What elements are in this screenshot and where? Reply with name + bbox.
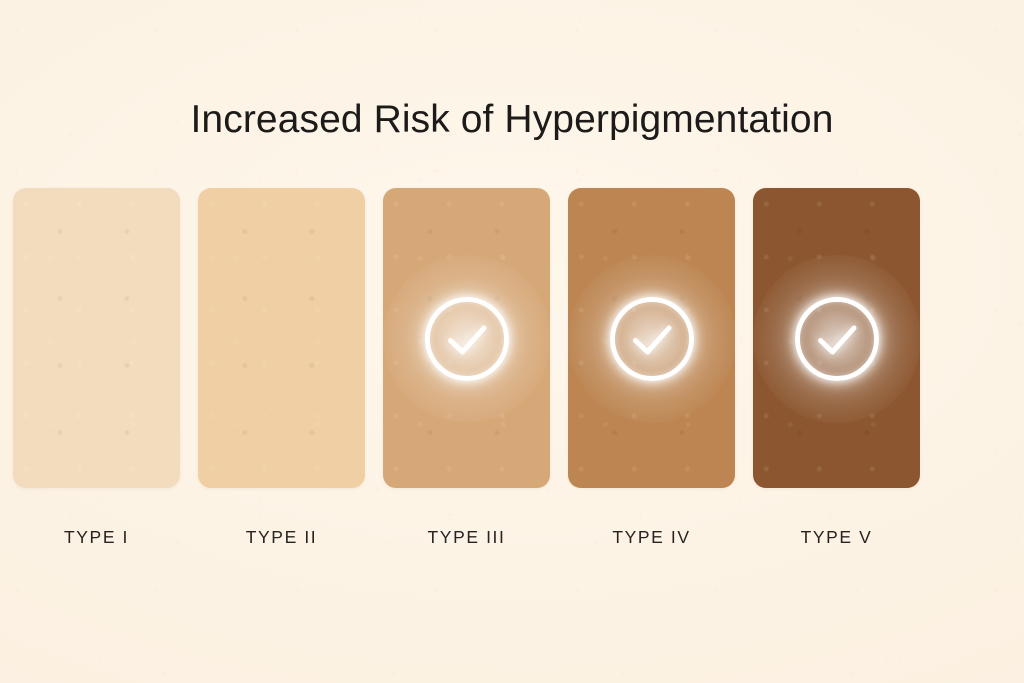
skin-type-swatch-cell[interactable]: [383, 188, 550, 488]
skin-type-scale: [13, 188, 920, 488]
skin-type-swatch-cell[interactable]: [198, 188, 365, 488]
skin-type-label: TYPE IV: [568, 527, 735, 548]
skin-type-swatch-cell[interactable]: [753, 188, 920, 488]
check-circle-icon: [610, 297, 694, 381]
checkmark-icon: [795, 297, 879, 381]
hyperpigmentation-risk-infographic: Increased Risk of Hyperpigmentation TYPE…: [0, 0, 1024, 683]
check-circle-icon: [425, 297, 509, 381]
skin-type-label: TYPE I: [13, 527, 180, 548]
skin-type-label: TYPE V: [753, 527, 920, 548]
check-circle-icon: [795, 297, 879, 381]
skin-tone-swatch[interactable]: [13, 188, 180, 488]
skin-type-label-row: TYPE ITYPE IITYPE IIITYPE IVTYPE V: [13, 527, 920, 548]
skin-type-label: TYPE II: [198, 527, 365, 548]
skin-type-swatch-cell[interactable]: [13, 188, 180, 488]
skin-tone-swatch[interactable]: [198, 188, 365, 488]
page-title: Increased Risk of Hyperpigmentation: [0, 98, 1024, 142]
checkmark-icon: [610, 297, 694, 381]
skin-type-label: TYPE III: [383, 527, 550, 548]
checkmark-icon: [425, 297, 509, 381]
skin-type-swatch-cell[interactable]: [568, 188, 735, 488]
